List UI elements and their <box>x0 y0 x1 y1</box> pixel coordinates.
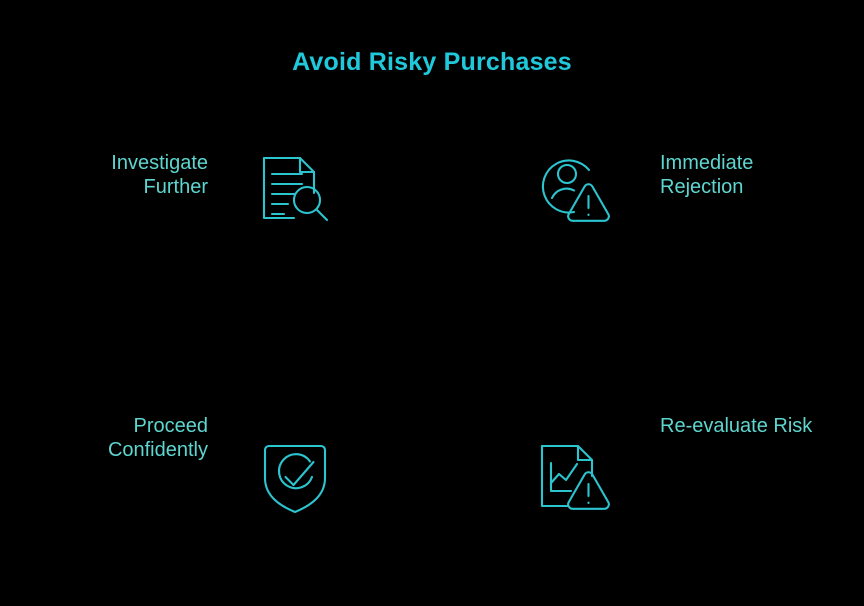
user-warning-icon <box>534 148 612 228</box>
document-search-icon <box>256 148 334 228</box>
quadrant-label-immediate-rejection: Immediate Rejection <box>660 151 753 199</box>
quadrant-top-left: Investigate Further <box>84 148 334 228</box>
quadrant-bottom-right: Re-evaluate Risk <box>534 436 824 516</box>
infographic-canvas: Avoid Risky Purchases Investigate Furthe… <box>0 0 864 606</box>
quadrant-bottom-left: Proceed Confidently <box>84 436 334 516</box>
shield-check-icon <box>256 436 334 516</box>
chart-document-warning-icon <box>534 436 612 516</box>
page-title: Avoid Risky Purchases <box>0 48 864 77</box>
quadrant-top-right: Immediate Rejection <box>534 148 794 228</box>
quadrant-label-re-evaluate-risk: Re-evaluate Risk <box>660 414 812 438</box>
quadrant-label-investigate-further: Investigate Further <box>111 151 208 199</box>
quadrant-label-proceed-confidently: Proceed Confidently <box>108 414 208 462</box>
